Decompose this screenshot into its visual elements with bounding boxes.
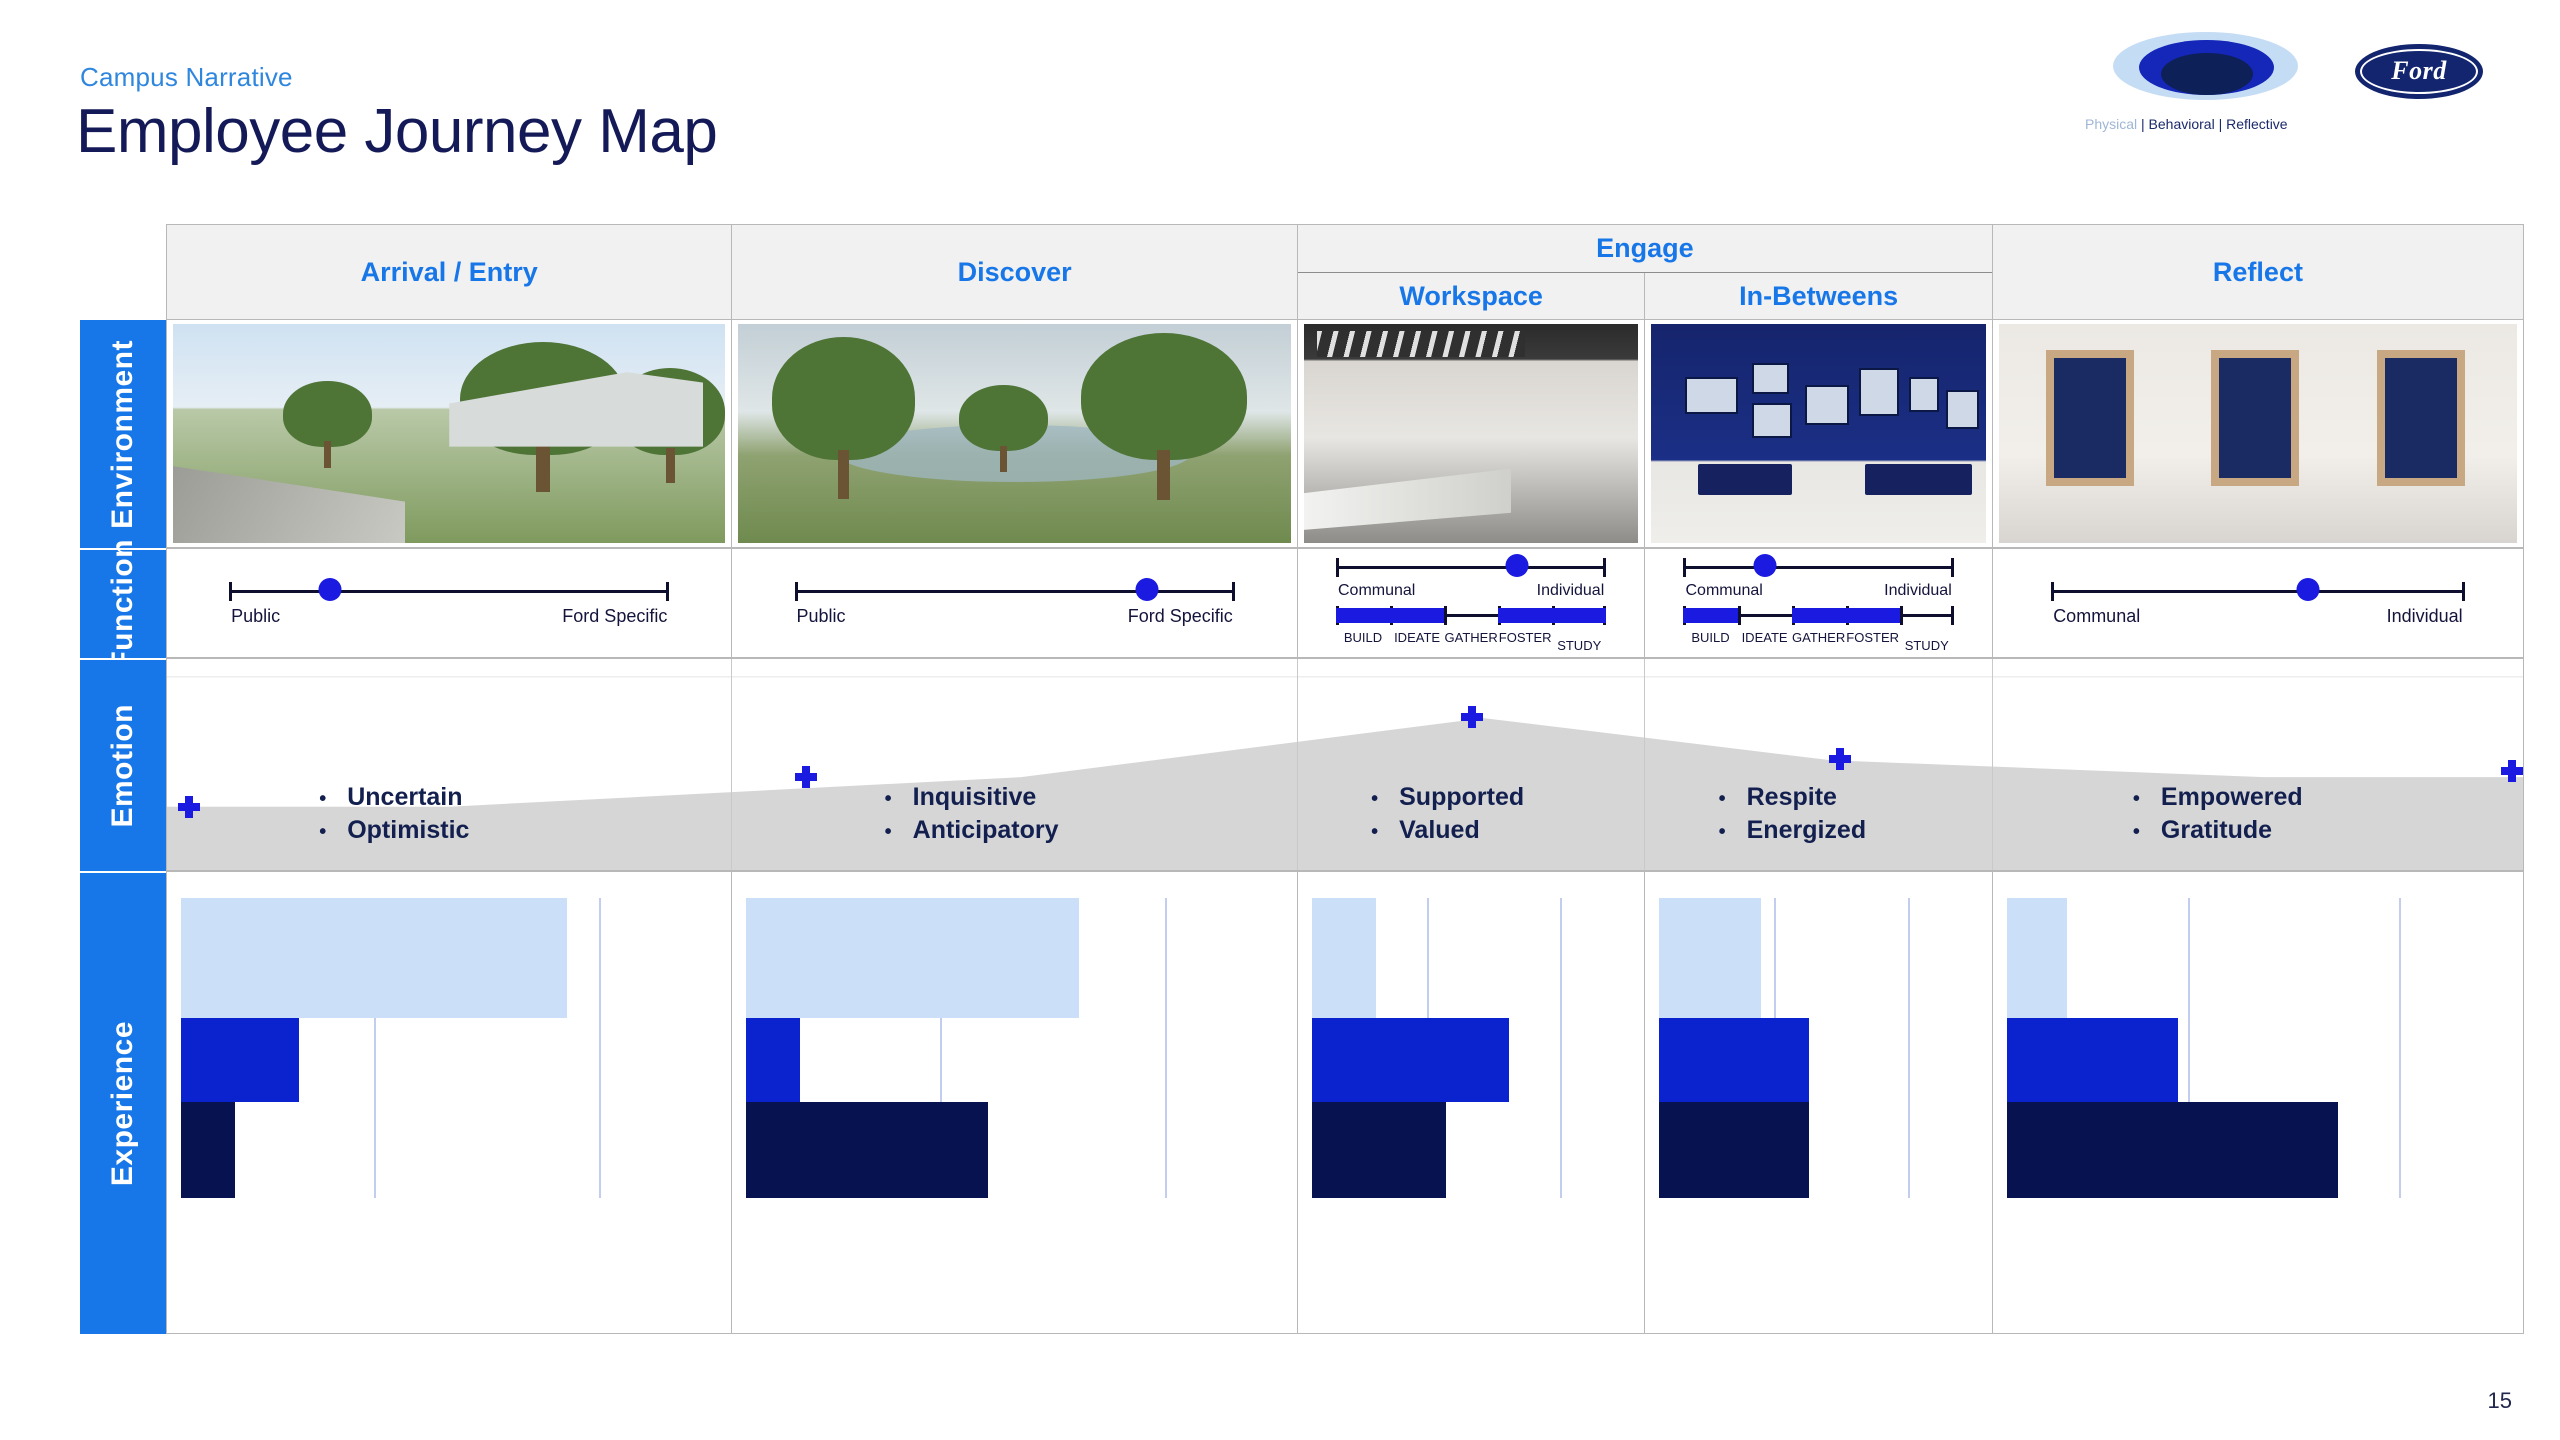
function-segment-bar-in-betweens[interactable]: BUILD IDEATE GATHER FOSTER STUDY <box>1683 606 1953 650</box>
segment-label: IDEATE <box>1394 630 1440 645</box>
plus-marker-icon <box>1829 748 1851 770</box>
bar-dark <box>1312 1102 1446 1198</box>
bar-light <box>746 898 1079 1018</box>
engage-group-label-cell[interactable]: Engage <box>1298 225 1992 273</box>
function-scale-public-ford[interactable]: Public Ford Specific <box>795 580 1235 626</box>
bar-mid <box>746 1018 800 1102</box>
scale-label-right: Individual <box>1884 582 1952 600</box>
column-header-discover[interactable]: Discover <box>732 225 1297 319</box>
segment-label: FOSTER <box>1846 630 1899 645</box>
ford-wordmark: Ford <box>2391 56 2446 86</box>
function-scale-communal-individual[interactable]: Communal Individual <box>1336 556 1606 596</box>
photo-open-workspace <box>1304 324 1639 543</box>
experience-bar-chart <box>181 898 717 1198</box>
column-header-label: Reflect <box>2213 257 2303 288</box>
segment-label: GATHER <box>1792 630 1845 645</box>
segment-label: BUILD <box>1344 630 1382 645</box>
function-cell-in-betweens: Communal Individual BUILD IDEATE GATHER … <box>1645 549 1993 657</box>
column-header-label: Discover <box>958 257 1072 288</box>
experience-cell-in-betweens <box>1645 872 1993 1333</box>
function-segment-bar-workspace[interactable]: BUILD IDEATE GATHER FOSTER STUDY <box>1336 606 1606 650</box>
experience-bar-chart <box>746 898 1282 1198</box>
experience-cell-reflect <box>1993 872 2523 1333</box>
list-item: •Inquisitive <box>885 781 1145 815</box>
bar-light <box>1312 898 1376 1018</box>
emotion-cell-reflect: •Empowered •Gratitude <box>1993 659 2523 870</box>
list-item: •Energized <box>1719 814 1919 848</box>
emotion-list: •Respite •Energized <box>1645 781 1992 871</box>
bar-light <box>1659 898 1761 1018</box>
scale-handle[interactable] <box>1506 554 1529 577</box>
bar-light <box>2007 898 2067 1018</box>
logo-caption-rest: | Behavioral | Reflective <box>2137 116 2287 132</box>
column-header-engage-group: Engage Workspace In-Betweens <box>1298 225 1993 319</box>
column-header-reflect[interactable]: Reflect <box>1993 225 2523 319</box>
experience-cell-arrival-entry <box>167 872 732 1333</box>
breadcrumb-eyebrow: Campus Narrative <box>80 62 293 93</box>
bar-dark <box>2007 1102 2338 1198</box>
segment-label: GATHER <box>1445 630 1498 645</box>
scale-label-left: Communal <box>2053 606 2140 627</box>
slide-canvas: Campus Narrative Employee Journey Map Ph… <box>0 0 2560 1440</box>
list-item: •Valued <box>1371 814 1571 848</box>
bar-light <box>181 898 567 1018</box>
column-header-workspace[interactable]: Workspace <box>1298 273 1646 320</box>
plus-marker-icon <box>1461 706 1483 728</box>
row-rail-emotion: Emotion <box>80 660 166 871</box>
scale-label-left: Public <box>797 606 846 627</box>
environment-cell-workspace <box>1298 320 1646 547</box>
function-cell-discover: Public Ford Specific <box>732 549 1297 657</box>
photo-reflect-gallery <box>1999 324 2517 543</box>
page-number: 15 <box>2488 1388 2512 1414</box>
engage-group-label: Engage <box>1596 233 1694 264</box>
list-item: •Gratitude <box>2133 814 2383 848</box>
scale-handle[interactable] <box>1135 578 1158 601</box>
scale-label-right: Ford Specific <box>562 606 667 627</box>
bar-mid <box>181 1018 299 1102</box>
function-scale-communal-individual[interactable]: Communal Individual <box>2051 580 2464 626</box>
bar-mid <box>1312 1018 1509 1102</box>
emotion-cell-workspace: •Supported •Valued <box>1298 659 1646 870</box>
bar-dark <box>1659 1102 1809 1198</box>
bar-mid <box>2007 1018 2178 1102</box>
physical-behavioral-reflective-logo-icon <box>2113 28 2298 106</box>
function-cell-workspace: Communal Individual BUILD IDEATE GATHER … <box>1298 549 1646 657</box>
list-item: •Supported <box>1371 781 1571 815</box>
list-item: •Optimistic <box>319 814 579 848</box>
scale-label-right: Individual <box>2387 606 2463 627</box>
environment-cell-reflect <box>1993 320 2523 547</box>
logo-cluster: Physical | Behavioral | Reflective Ford <box>2085 28 2505 148</box>
environment-cell-in-betweens <box>1645 320 1993 547</box>
column-header-label: Arrival / Entry <box>361 257 538 288</box>
column-header-arrival-entry[interactable]: Arrival / Entry <box>167 225 732 319</box>
function-scale-public-ford[interactable]: Public Ford Specific <box>229 580 669 626</box>
experience-cell-discover <box>732 872 1297 1333</box>
function-cell-reflect: Communal Individual <box>1993 549 2523 657</box>
column-header-label: Workspace <box>1399 281 1543 312</box>
ford-logo-icon: Ford <box>2355 44 2483 99</box>
function-row: Public Ford Specific Public Ford Specifi… <box>166 548 2524 658</box>
row-rail-environment: Environment <box>80 320 166 548</box>
emotion-row: •Uncertain •Optimistic •Inquisitive •Ant… <box>166 658 2524 871</box>
emotion-list: •Uncertain •Optimistic <box>167 781 731 871</box>
bar-dark <box>181 1102 235 1198</box>
row-rail-experience: Experience <box>80 873 166 1334</box>
scale-label-left: Communal <box>1338 582 1415 600</box>
experience-cell-workspace <box>1298 872 1646 1333</box>
function-scale-communal-individual[interactable]: Communal Individual <box>1683 556 1953 596</box>
segment-label: IDEATE <box>1742 630 1788 645</box>
environment-cell-arrival-entry <box>167 320 732 547</box>
bar-mid <box>1659 1018 1809 1102</box>
list-item: •Anticipatory <box>885 814 1145 848</box>
segment-label: BUILD <box>1691 630 1729 645</box>
list-item: •Respite <box>1719 781 1919 815</box>
environment-row <box>166 320 2524 548</box>
row-rail-function: Function <box>80 550 166 658</box>
scale-handle[interactable] <box>319 578 342 601</box>
bar-dark <box>746 1102 987 1198</box>
environment-cell-discover <box>732 320 1297 547</box>
experience-row <box>166 871 2524 1334</box>
segment-label: STUDY <box>1905 638 1949 653</box>
journey-matrix: Environment Function Emotion Experience … <box>80 224 2524 1334</box>
page-title: Employee Journey Map <box>76 96 717 167</box>
scale-label-left: Public <box>231 606 280 627</box>
scale-handle[interactable] <box>1753 554 1776 577</box>
plus-marker-icon <box>2501 760 2523 782</box>
experience-bar-chart <box>1659 898 1978 1198</box>
segment-label: FOSTER <box>1499 630 1552 645</box>
scale-handle[interactable] <box>2296 578 2319 601</box>
logo-caption-physical: Physical <box>2085 116 2137 132</box>
emotion-list: •Inquisitive •Anticipatory <box>732 781 1296 871</box>
column-header-label: In-Betweens <box>1739 281 1898 312</box>
experience-bar-chart <box>2007 898 2509 1198</box>
photo-in-between-lounge <box>1651 324 1986 543</box>
scale-label-right: Ford Specific <box>1128 606 1233 627</box>
emotion-list: •Supported •Valued <box>1298 781 1645 871</box>
experience-bar-chart <box>1312 898 1631 1198</box>
column-header-in-betweens[interactable]: In-Betweens <box>1645 273 1992 320</box>
segment-label: STUDY <box>1557 638 1601 653</box>
logo-caption: Physical | Behavioral | Reflective <box>2085 116 2315 132</box>
scale-label-left: Communal <box>1685 582 1762 600</box>
emotion-cell-in-betweens: •Respite •Energized <box>1645 659 1993 870</box>
scale-label-right: Individual <box>1537 582 1605 600</box>
function-cell-arrival-entry: Public Ford Specific <box>167 549 732 657</box>
photo-park-landscape <box>738 324 1290 543</box>
column-header-row: Arrival / Entry Discover Engage Workspac… <box>166 224 2524 320</box>
emotion-cell-discover: •Inquisitive •Anticipatory <box>732 659 1297 870</box>
list-item: •Empowered <box>2133 781 2383 815</box>
photo-campus-entry <box>173 324 725 543</box>
list-item: •Uncertain <box>319 781 579 815</box>
emotion-list: •Empowered •Gratitude <box>1993 781 2523 871</box>
emotion-cell-arrival-entry: •Uncertain •Optimistic <box>167 659 732 870</box>
